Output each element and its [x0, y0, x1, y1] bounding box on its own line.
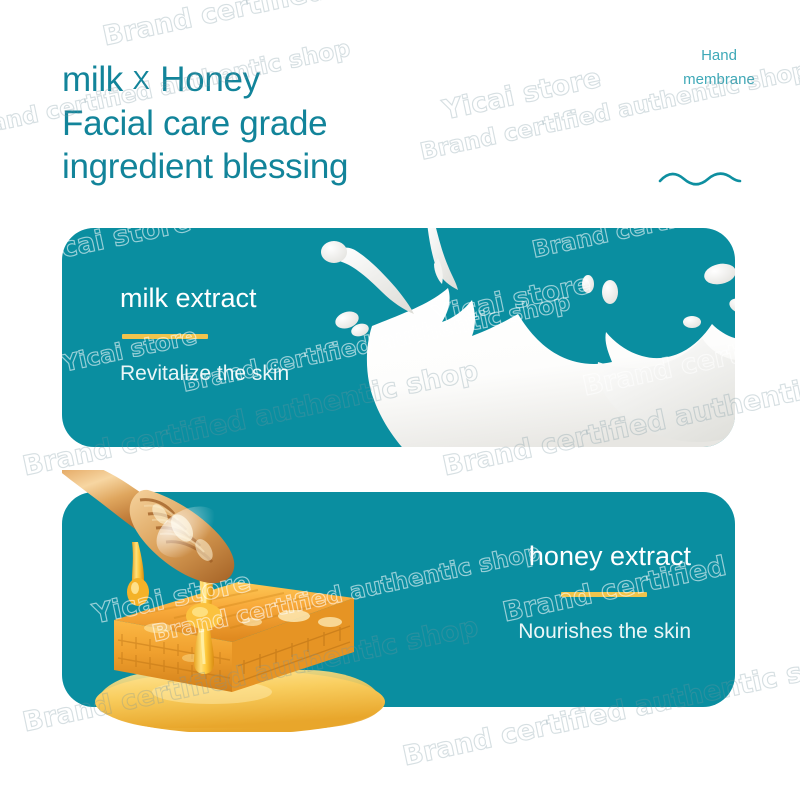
honey-card-text: honey extract Nourishes the skin — [518, 540, 691, 645]
corner-label-line1: Hand — [648, 44, 790, 68]
honey-card-divider — [561, 592, 647, 597]
headline-line1-post: Honey — [151, 60, 260, 99]
ingredient-card-milk: milk extract Revitalize the skin — [62, 228, 735, 447]
watermark-text: Brand certified authentic shop — [100, 0, 561, 52]
milk-card-subtitle: Revitalize the skin — [120, 361, 289, 387]
milk-splash-image — [292, 228, 735, 447]
milk-card-divider — [122, 334, 208, 339]
honey-card-title: honey extract — [518, 540, 691, 572]
milk-card-text: milk extract Revitalize the skin — [120, 282, 289, 387]
milk-card-title: milk extract — [120, 282, 289, 314]
ingredient-card-honey: honey extract Nourishes the skin — [62, 492, 735, 707]
headline-line1-pre: milk — [62, 60, 132, 99]
wave-squiggle-icon — [658, 168, 742, 188]
headline-x-separator: X — [132, 65, 150, 95]
product-category-label: Hand membrane — [648, 44, 790, 92]
headline-line2: Facial care grade — [62, 104, 327, 143]
corner-label-line2: membrane — [648, 68, 790, 92]
product-infographic: milk X Honey Facial care grade ingredien… — [0, 0, 800, 800]
honey-card-subtitle: Nourishes the skin — [518, 619, 691, 645]
headline-line3: ingredient blessing — [62, 147, 348, 186]
page-title: milk X Honey Facial care grade ingredien… — [62, 58, 512, 188]
